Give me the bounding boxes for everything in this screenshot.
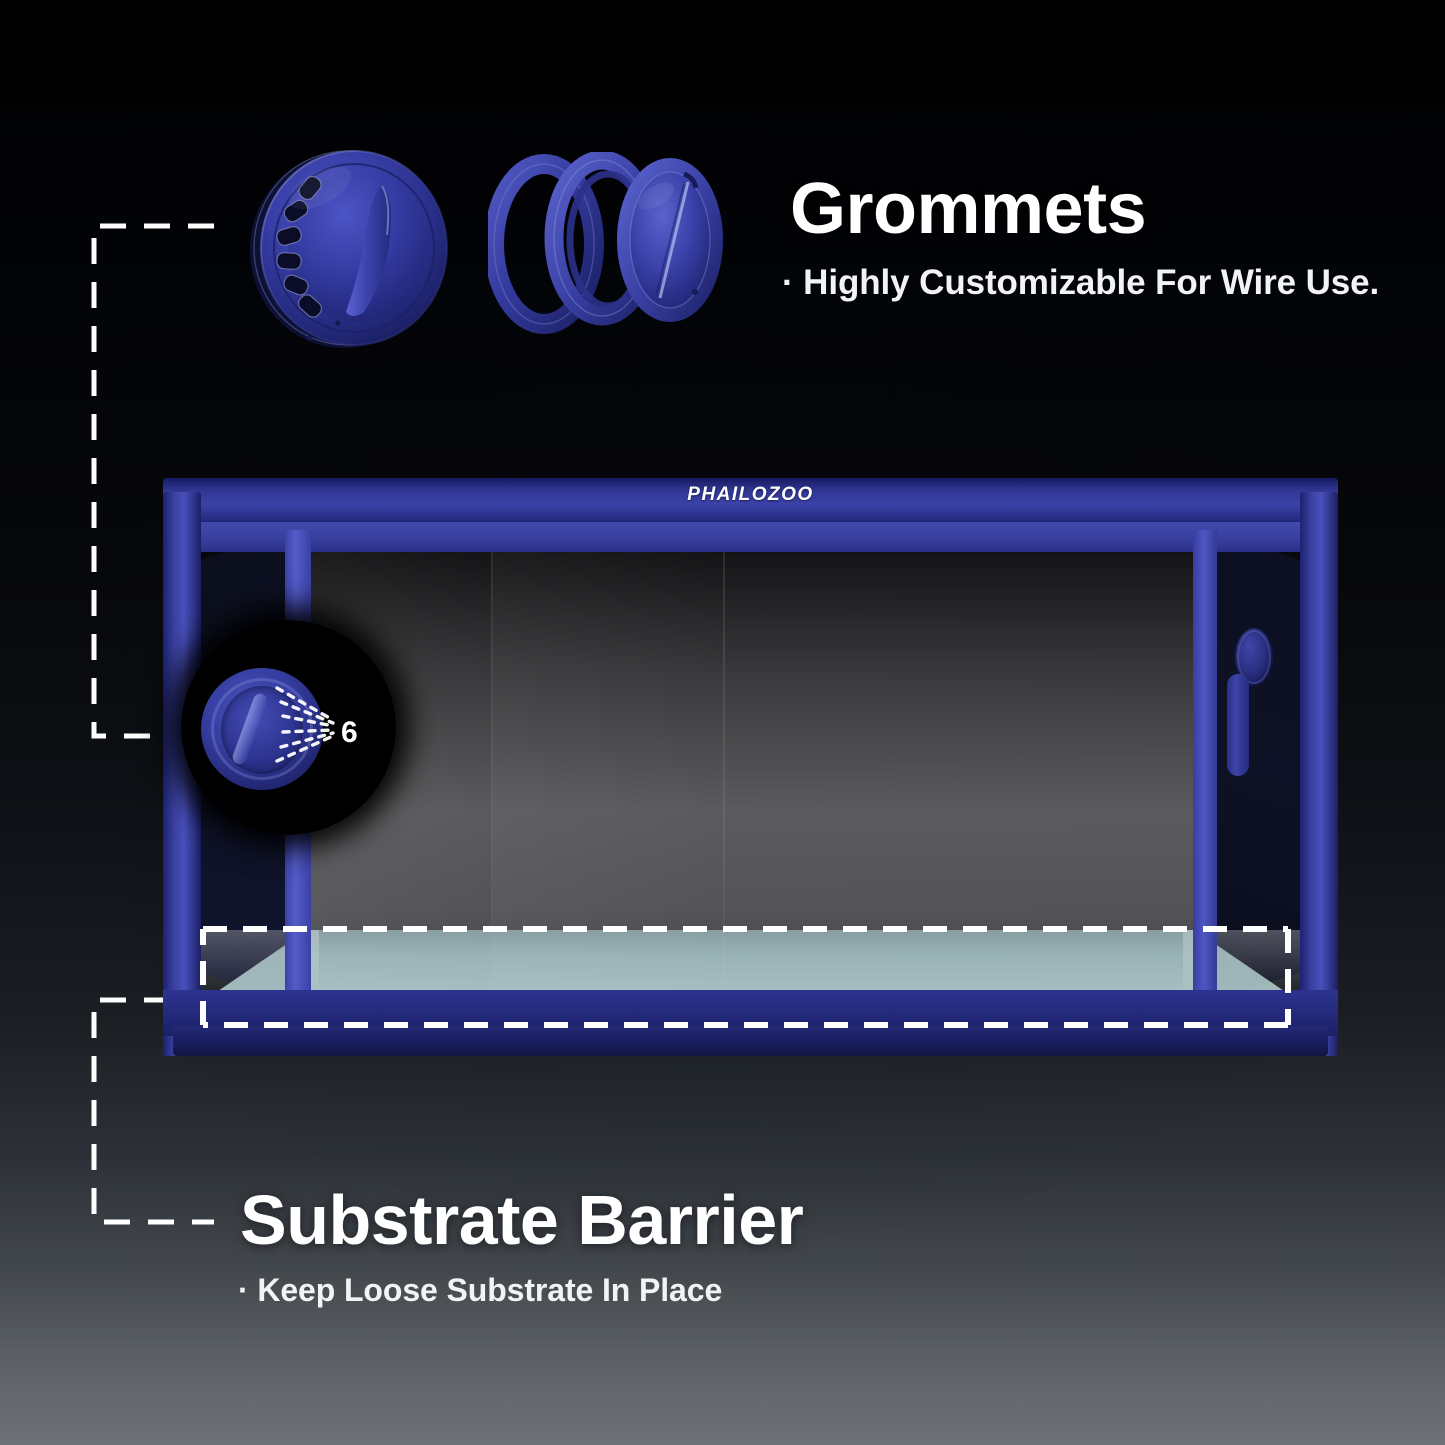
substrate-barrier-subheading: · Keep Loose Substrate In Place xyxy=(238,1272,722,1309)
grommet-cap-product-image xyxy=(232,140,472,355)
grommet-rings-product-image xyxy=(488,152,723,340)
enclosure-top-rail: PHAILOZOO xyxy=(163,478,1338,524)
enclosure-top-bevel xyxy=(181,522,1320,552)
grommet-count-label: 6 xyxy=(341,716,358,750)
grommets-subheading: · Highly Customizable For Wire Use. xyxy=(782,263,1379,303)
infographic-canvas: Grommets · Highly Customizable For Wire … xyxy=(0,0,1445,1445)
substrate-barrier-heading: Substrate Barrier xyxy=(240,1180,803,1260)
grommet-count-leader-lines xyxy=(181,620,396,835)
magnifier-callout: 6 xyxy=(181,620,396,835)
grommets-heading: Grommets xyxy=(790,168,1146,250)
enclosure-right-post xyxy=(1300,492,1338,1056)
side-grommet-cap-icon xyxy=(1227,674,1249,776)
enclosure-base-plinth xyxy=(173,1026,1328,1056)
enclosure-right-inner-pillar xyxy=(1193,530,1217,1000)
brand-logo: PHAILOZOO xyxy=(163,484,1338,506)
